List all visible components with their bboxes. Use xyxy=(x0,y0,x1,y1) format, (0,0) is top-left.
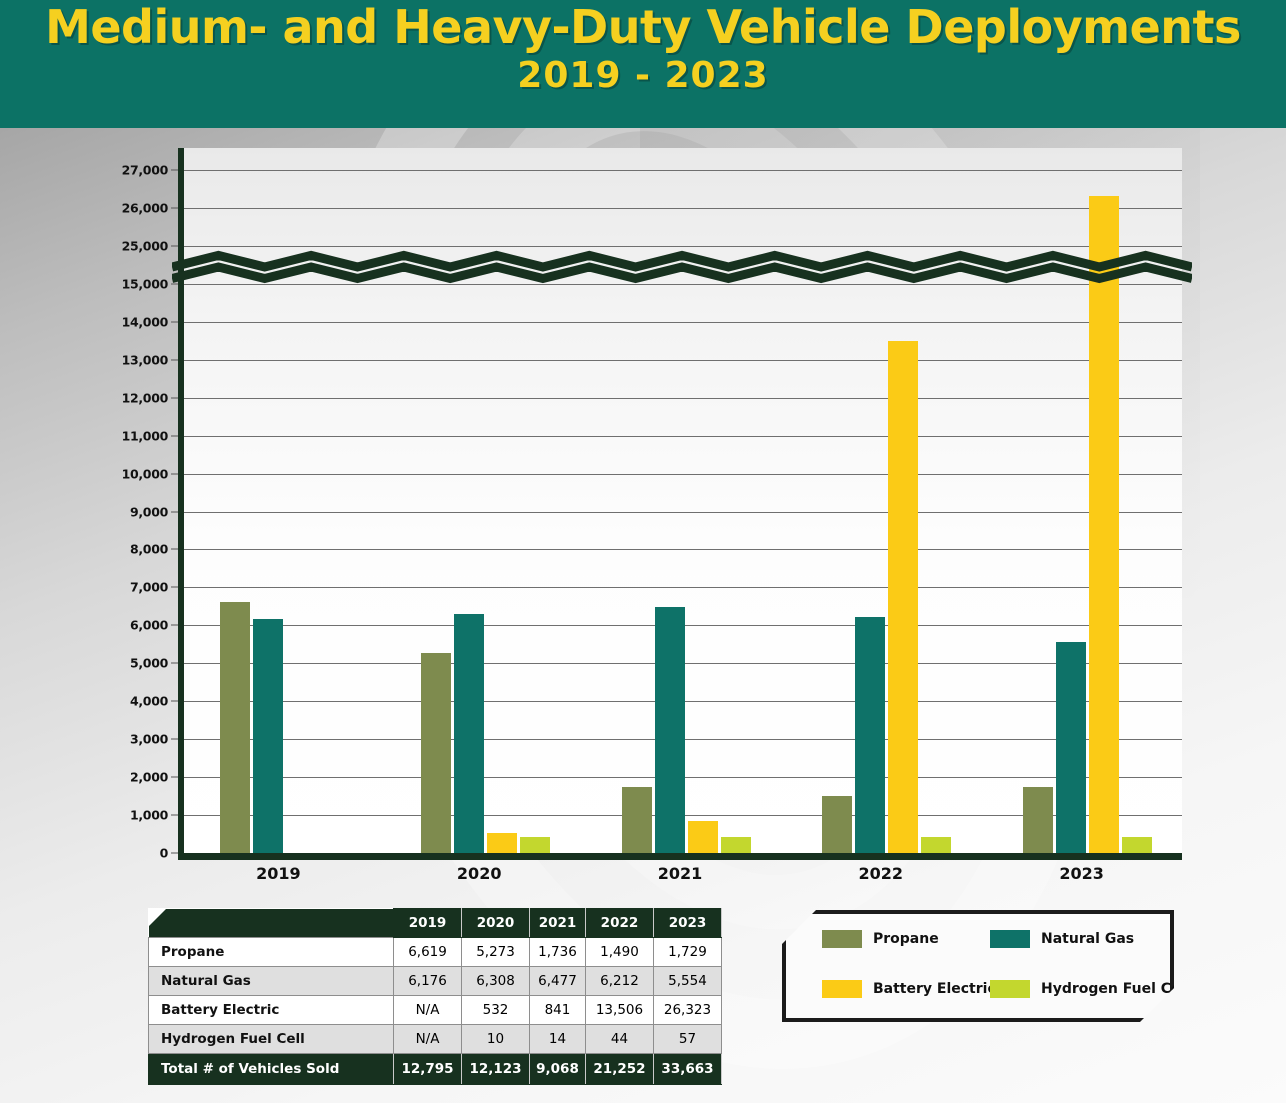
table-total-cell: 9,068 xyxy=(530,1054,586,1085)
y-axis-tick-label: 15,000 xyxy=(122,276,168,291)
table-cell: 44 xyxy=(585,1025,653,1054)
gridline xyxy=(184,474,1182,475)
legend-label: Hydrogen Fuel Cell xyxy=(1041,981,1190,997)
bar-propane-2019 xyxy=(220,602,250,853)
y-axis-tick-mark xyxy=(171,815,178,816)
bar-propane-2023 xyxy=(1023,787,1053,853)
table-row-label: Battery Electric xyxy=(149,996,394,1025)
table-cell: 13,506 xyxy=(585,996,653,1025)
table-cell: 532 xyxy=(462,996,530,1025)
table-header-row: 20192020202120222023 xyxy=(149,909,722,938)
bar-battery-electric-2020 xyxy=(487,833,517,853)
gridline xyxy=(184,398,1182,399)
table-cell: 6,212 xyxy=(585,967,653,996)
y-axis-tick-mark xyxy=(171,359,178,360)
y-axis-tick-label: 7,000 xyxy=(130,580,168,595)
legend-swatch-icon xyxy=(990,980,1030,998)
table-total-cell: 21,252 xyxy=(585,1054,653,1085)
gridline xyxy=(184,246,1182,247)
y-axis-tick-label: 4,000 xyxy=(130,694,168,709)
table-cell: 6,176 xyxy=(394,967,462,996)
table-body: Propane6,6195,2731,7361,4901,729Natural … xyxy=(149,938,722,1085)
y-axis-tick-label: 0 xyxy=(160,846,168,861)
bar-propane-2020 xyxy=(421,653,451,853)
x-axis-label-2020: 2020 xyxy=(457,864,502,883)
gridline xyxy=(184,170,1182,171)
y-axis-tick-label: 11,000 xyxy=(122,428,168,443)
gridline xyxy=(184,360,1182,361)
bar-battery-electric-2021 xyxy=(688,821,718,853)
table-total-cell: 12,795 xyxy=(394,1054,462,1085)
y-axis: 27,00026,00025,00015,00014,00013,00012,0… xyxy=(110,148,178,868)
y-axis-tick-label: 13,000 xyxy=(122,352,168,367)
gridline xyxy=(184,284,1182,285)
table-row-label: Propane xyxy=(149,938,394,967)
bar-hydrogen-fuel-cell-2021 xyxy=(721,837,751,853)
legend-row: Battery ElectricHydrogen Fuel Cell xyxy=(786,964,1170,1014)
bar-natural-gas-2022 xyxy=(855,617,885,853)
y-axis-tick-label: 14,000 xyxy=(122,314,168,329)
gridline xyxy=(184,587,1182,588)
page-subtitle: 2019 - 2023 xyxy=(0,55,1286,96)
table-corner-cell xyxy=(149,909,394,938)
x-axis-label-2023: 2023 xyxy=(1059,864,1104,883)
table-cell: 5,554 xyxy=(653,967,721,996)
bar-natural-gas-2020 xyxy=(454,614,484,853)
y-axis-tick-mark xyxy=(171,587,178,588)
bar-natural-gas-2021 xyxy=(655,607,685,853)
x-axis-label-2019: 2019 xyxy=(256,864,301,883)
y-axis-tick-mark xyxy=(171,663,178,664)
bar-propane-2022 xyxy=(822,796,852,853)
table-row-label: Natural Gas xyxy=(149,967,394,996)
y-axis-tick-mark xyxy=(171,207,178,208)
legend-label: Battery Electric xyxy=(873,981,996,997)
y-axis-tick-label: 9,000 xyxy=(130,504,168,519)
table-cell: N/A xyxy=(394,1025,462,1054)
table-row: Natural Gas6,1766,3086,4776,2125,554 xyxy=(149,967,722,996)
table-cell: 6,477 xyxy=(530,967,586,996)
legend-label: Natural Gas xyxy=(1041,931,1134,947)
legend-label: Propane xyxy=(873,931,939,947)
x-axis-label-2022: 2022 xyxy=(859,864,904,883)
y-axis-tick-mark xyxy=(171,625,178,626)
x-axis-baseline xyxy=(178,853,1182,860)
x-axis-label-2021: 2021 xyxy=(658,864,703,883)
bar-natural-gas-2019 xyxy=(253,619,283,853)
gridline xyxy=(184,208,1182,209)
y-axis-tick-label: 10,000 xyxy=(122,466,168,481)
legend-item-battery-electric[interactable]: Battery Electric xyxy=(822,980,990,998)
table-col-header-2019: 2019 xyxy=(394,909,462,938)
y-axis-tick-mark xyxy=(171,473,178,474)
legend-item-propane[interactable]: Propane xyxy=(822,930,990,948)
y-axis-tick-label: 8,000 xyxy=(130,542,168,557)
gridline xyxy=(184,322,1182,323)
y-axis-tick-mark xyxy=(171,511,178,512)
title-banner: Medium- and Heavy-Duty Vehicle Deploymen… xyxy=(0,0,1286,128)
plot-region: 27,00026,00025,00015,00014,00013,00012,0… xyxy=(110,148,1185,868)
bar-battery-electric-2023 xyxy=(1089,196,1119,853)
y-axis-tick-label: 6,000 xyxy=(130,618,168,633)
chart-legend: PropaneNatural GasBattery ElectricHydrog… xyxy=(782,910,1174,1022)
y-axis-tick-label: 25,000 xyxy=(122,238,168,253)
page-title: Medium- and Heavy-Duty Vehicle Deploymen… xyxy=(0,4,1286,51)
table-cell: 1,729 xyxy=(653,938,721,967)
gridline xyxy=(184,436,1182,437)
table-cell: 1,490 xyxy=(585,938,653,967)
y-axis-tick-mark xyxy=(171,853,178,854)
legend-swatch-icon xyxy=(822,980,862,998)
table-row: Propane6,6195,2731,7361,4901,729 xyxy=(149,938,722,967)
table-row-label: Hydrogen Fuel Cell xyxy=(149,1025,394,1054)
legend-swatch-icon xyxy=(990,930,1030,948)
bar-natural-gas-2023 xyxy=(1056,642,1086,853)
table-col-header-2021: 2021 xyxy=(530,909,586,938)
bar-propane-2021 xyxy=(622,787,652,853)
table-col-header-2022: 2022 xyxy=(585,909,653,938)
table-cell: 5,273 xyxy=(462,938,530,967)
y-axis-tick-mark xyxy=(171,435,178,436)
table-row: Hydrogen Fuel CellN/A10144457 xyxy=(149,1025,722,1054)
y-axis-tick-mark xyxy=(171,170,178,171)
legend-swatch-icon xyxy=(822,930,862,948)
table-cell: 6,619 xyxy=(394,938,462,967)
plot-area xyxy=(178,148,1182,853)
legend-row: PropaneNatural Gas xyxy=(786,914,1170,964)
table-total-row: Total # of Vehicles Sold12,79512,1239,06… xyxy=(149,1054,722,1085)
bar-hydrogen-fuel-cell-2022 xyxy=(921,837,951,853)
table-cell: 26,323 xyxy=(653,996,721,1025)
bar-hydrogen-fuel-cell-2020 xyxy=(520,837,550,853)
table-total-cell: 12,123 xyxy=(462,1054,530,1085)
table-bevel xyxy=(722,908,748,1085)
gridline xyxy=(184,512,1182,513)
chart-canvas: 27,00026,00025,00015,00014,00013,00012,0… xyxy=(0,128,1286,1103)
table-cell: N/A xyxy=(394,996,462,1025)
table-total-label: Total # of Vehicles Sold xyxy=(149,1054,394,1085)
data-table: 20192020202120222023 Propane6,6195,2731,… xyxy=(148,908,722,1085)
y-axis-tick-label: 26,000 xyxy=(122,200,168,215)
bar-battery-electric-2022 xyxy=(888,341,918,853)
legend-item-natural-gas[interactable]: Natural Gas xyxy=(990,930,1134,948)
y-axis-tick-mark xyxy=(171,397,178,398)
y-axis-tick-mark xyxy=(171,283,178,284)
y-axis-tick-mark xyxy=(171,701,178,702)
table-cell: 841 xyxy=(530,996,586,1025)
table-cell: 57 xyxy=(653,1025,721,1054)
y-axis-tick-mark xyxy=(171,245,178,246)
table-cell: 10 xyxy=(462,1025,530,1054)
y-axis-tick-label: 12,000 xyxy=(122,390,168,405)
y-axis-tick-label: 5,000 xyxy=(130,656,168,671)
table-col-header-2020: 2020 xyxy=(462,909,530,938)
y-axis-tick-label: 27,000 xyxy=(122,163,168,178)
gridline xyxy=(184,549,1182,550)
table-cell: 6,308 xyxy=(462,967,530,996)
table-cell: 1,736 xyxy=(530,938,586,967)
y-axis-tick-label: 1,000 xyxy=(130,808,168,823)
y-axis-tick-mark xyxy=(171,549,178,550)
y-axis-tick-mark xyxy=(171,321,178,322)
table-cell: 14 xyxy=(530,1025,586,1054)
bar-hydrogen-fuel-cell-2023 xyxy=(1122,837,1152,853)
table-row: Battery ElectricN/A53284113,50626,323 xyxy=(149,996,722,1025)
y-axis-tick-label: 2,000 xyxy=(130,770,168,785)
table-total-cell: 33,663 xyxy=(653,1054,721,1085)
y-axis-tick-mark xyxy=(171,777,178,778)
y-axis-tick-label: 3,000 xyxy=(130,732,168,747)
legend-item-hydrogen-fuel-cell[interactable]: Hydrogen Fuel Cell xyxy=(990,980,1190,998)
y-axis-tick-mark xyxy=(171,739,178,740)
table-col-header-2023: 2023 xyxy=(653,909,721,938)
